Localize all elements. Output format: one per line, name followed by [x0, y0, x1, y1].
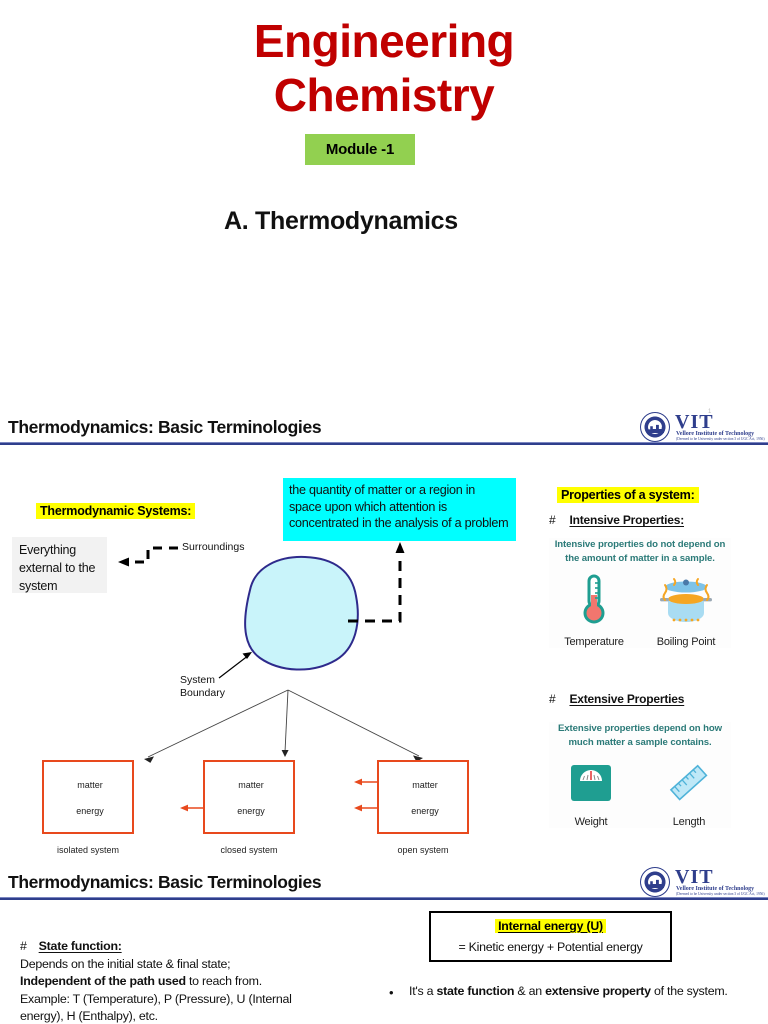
- weighing-scale-icon: [567, 759, 615, 807]
- bullet-pre: It's a: [409, 984, 436, 998]
- boiling-pot-icon: [656, 573, 716, 627]
- open-system-box: matter energy: [377, 760, 469, 834]
- boiling-point-item: Boiling Point: [654, 573, 718, 648]
- intensive-properties-card: Intensive properties do not depend on th…: [549, 538, 731, 648]
- state-function-line2-bold: Independent of the path used: [20, 974, 186, 988]
- vit-subtagline-2: (Deemed to be University under section 3…: [676, 892, 765, 896]
- isolated-system-caption: isolated system: [23, 845, 153, 855]
- ruler-icon: [665, 759, 713, 807]
- course-title-line2: Chemistry: [0, 68, 768, 122]
- isolated-system-box: matter energy: [42, 760, 134, 834]
- isolated-energy-label: energy: [44, 806, 136, 816]
- state-function-block: #State function: Depends on the initial …: [20, 938, 380, 1024]
- length-item: Length: [657, 759, 721, 828]
- slide-title-text: Thermodynamics: Basic Terminologies: [8, 417, 321, 438]
- boiling-point-label: Boiling Point: [654, 636, 718, 648]
- open-energy-label: energy: [379, 806, 471, 816]
- extensive-properties-title: Extensive Properties: [569, 692, 684, 706]
- extensive-properties-heading: #Extensive Properties: [549, 692, 684, 706]
- thermometer-icon: [574, 573, 614, 627]
- weight-label: Weight: [559, 816, 623, 828]
- length-label: Length: [657, 816, 721, 828]
- intensive-icon-row: Temperature: [549, 573, 731, 648]
- state-function-heading: #State function:: [20, 938, 380, 956]
- state-function-line3: Example: T (Temperature), P (Pressure), …: [20, 991, 380, 1009]
- intensive-hash-marker: #: [549, 513, 555, 527]
- intensive-properties-title: Intensive Properties:: [569, 513, 684, 527]
- properties-of-system-label: Properties of a system:: [557, 487, 699, 503]
- everything-external-box: Everything external to the system: [12, 537, 107, 593]
- vit-logo-2: VIT Vellore Institute of Technology (Dee…: [640, 867, 768, 897]
- state-function-line1: Depends on the initial state & final sta…: [20, 956, 380, 974]
- bullet-marker: •: [389, 984, 393, 1002]
- system-boundary-label-line1: System: [180, 674, 225, 687]
- properties-of-system-heading: Properties of a system:: [557, 487, 699, 503]
- bullet-bold-1: state function: [436, 984, 514, 998]
- vit-logo: VIT Vellore Institute of Technology (Dee…: [640, 412, 768, 442]
- intensive-properties-caption: Intensive properties do not depend on th…: [549, 538, 731, 565]
- state-function-line2-rest: to reach from.: [186, 974, 262, 988]
- temperature-label: Temperature: [562, 636, 626, 648]
- weight-item: Weight: [559, 759, 623, 828]
- header-divider-2: [0, 897, 768, 900]
- slide-deck-page: Engineering Chemistry Module -1 A. Therm…: [0, 0, 768, 1024]
- state-function-line2: Independent of the path used to reach fr…: [20, 973, 380, 991]
- closed-matter-label: matter: [205, 780, 297, 790]
- system-boundary-label: System Boundary: [180, 674, 225, 700]
- system-boundary-label-line2: Boundary: [180, 687, 225, 700]
- closed-energy-label: energy: [205, 806, 297, 816]
- bullet-bold-2: extensive property: [545, 984, 651, 998]
- internal-energy-bullet: •It's a state function & an extensive pr…: [409, 983, 761, 1001]
- internal-energy-title: Internal energy (U): [495, 919, 606, 933]
- state-function-hash-marker: #: [20, 939, 27, 953]
- extensive-properties-caption: Extensive properties depend on how much …: [549, 722, 731, 749]
- slide-header-2: Thermodynamics: Basic Terminologies VIT …: [0, 865, 768, 903]
- bullet-mid: & an: [514, 984, 545, 998]
- slide-title-text-2: Thermodynamics: Basic Terminologies: [8, 872, 321, 893]
- closed-system-box: matter energy: [203, 760, 295, 834]
- title-slide: Engineering Chemistry Module -1 A. Therm…: [0, 0, 768, 410]
- temperature-item: Temperature: [562, 573, 626, 648]
- extensive-icon-row: Weight Le: [549, 759, 731, 828]
- slide-header: Thermodynamics: Basic Terminologies VIT …: [0, 410, 768, 448]
- course-title-line1: Engineering: [0, 14, 768, 68]
- open-system-caption: open system: [358, 845, 488, 855]
- state-function-line4: energy), H (Enthalpy), etc.: [20, 1008, 380, 1024]
- surroundings-label: Surroundings: [182, 541, 244, 553]
- thermodynamic-systems-heading: Thermodynamic Systems:: [36, 503, 195, 519]
- header-divider: [0, 442, 768, 445]
- topic-subtitle: A. Thermodynamics: [224, 205, 490, 237]
- vit-seal-icon: [640, 412, 670, 442]
- system-definition-box: the quantity of matter or a region in sp…: [283, 478, 516, 541]
- vit-subtagline: (Deemed to be University under section 3…: [676, 437, 765, 441]
- extensive-properties-card: Extensive properties depend on how much …: [549, 722, 731, 828]
- vit-seal-icon-2: [640, 867, 670, 897]
- thermodynamic-systems-label: Thermodynamic Systems:: [36, 503, 195, 519]
- closed-system-caption: closed system: [184, 845, 314, 855]
- system-label: System: [268, 610, 303, 622]
- internal-energy-formula: = Kinetic energy + Potential energy: [431, 940, 670, 954]
- state-function-title: State function:: [39, 939, 122, 953]
- open-matter-label: matter: [379, 780, 471, 790]
- course-title: Engineering Chemistry: [0, 14, 768, 123]
- internal-energy-box: Internal energy (U) = Kinetic energy + P…: [429, 911, 672, 962]
- isolated-matter-label: matter: [44, 780, 136, 790]
- page-number: 1: [708, 409, 711, 415]
- module-badge: Module -1: [305, 134, 415, 165]
- intensive-properties-heading: #Intensive Properties:: [549, 513, 684, 527]
- extensive-hash-marker: #: [549, 692, 555, 706]
- bullet-post: of the system.: [651, 984, 728, 998]
